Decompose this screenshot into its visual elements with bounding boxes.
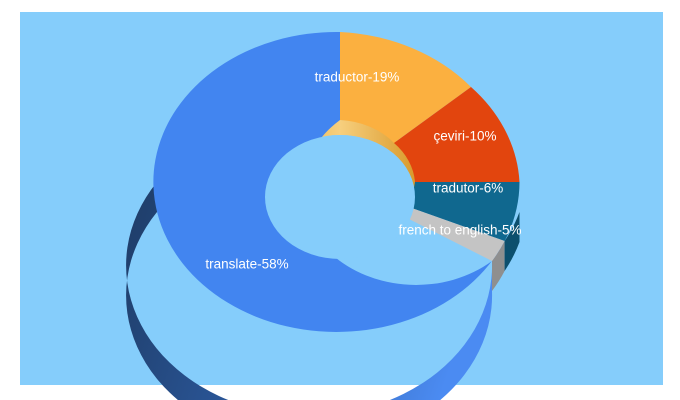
slice-label-translate: translate-58% bbox=[205, 257, 288, 272]
slice-label-ceviri: çeviri-10% bbox=[433, 129, 496, 144]
pie-chart-container: translate-58% traductor-19% çeviri-10% t… bbox=[0, 0, 680, 400]
slice-label-french-to-english: french to english-5% bbox=[398, 223, 521, 238]
slice-label-traductor: traductor-19% bbox=[315, 70, 400, 85]
slice-label-tradutor: tradutor-6% bbox=[433, 181, 504, 196]
donut-hole bbox=[265, 135, 415, 259]
donut-chart-svg: translate-58% traductor-19% çeviri-10% t… bbox=[0, 0, 680, 400]
